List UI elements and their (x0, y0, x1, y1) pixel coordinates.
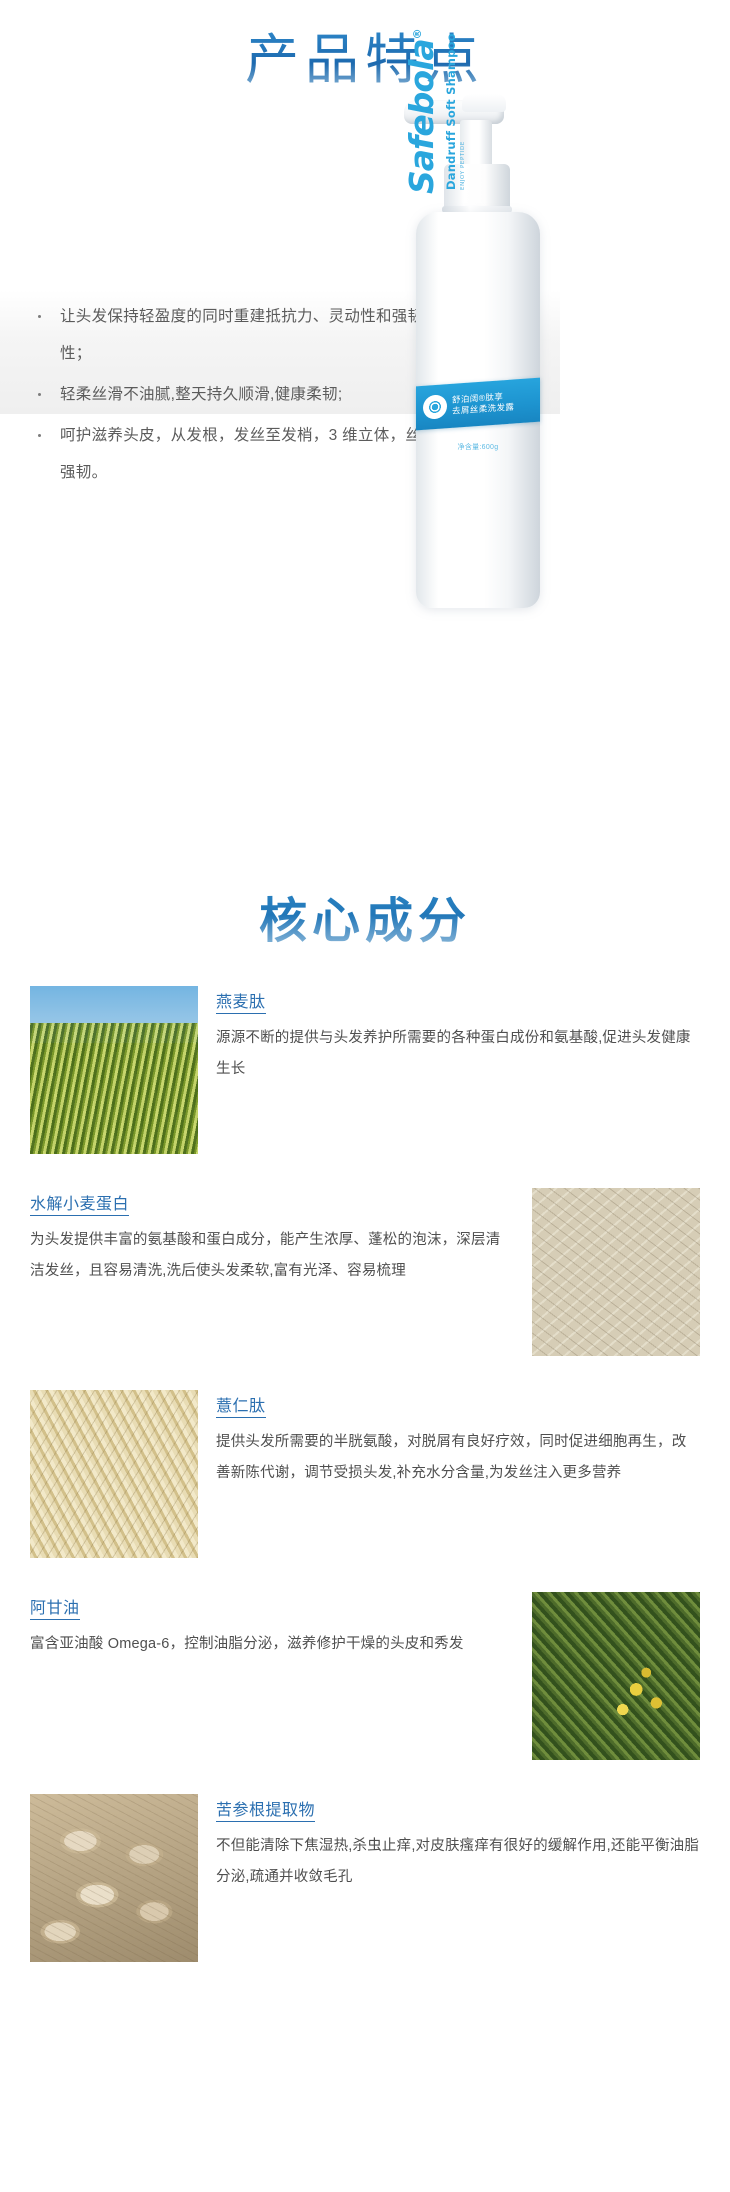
ingredient-name[interactable]: 燕麦肽 (216, 988, 266, 1014)
bottle-label-text: 舒泊阔®肽享 去屑丝柔洗发露 (452, 390, 514, 416)
coix-seed-photo (30, 1390, 198, 1558)
ingredient-row: 薏仁肽 提供头发所需要的半胱氨酸，对脱屑有良好疗效，同时促进细胞再生，改善新陈代… (0, 1390, 730, 1558)
ingredient-name[interactable]: 苦参根提取物 (216, 1796, 315, 1822)
ingredient-row: 阿甘油 富含亚油酸 Omega-6，控制油脂分泌，滋养修护干燥的头皮和秀发 (0, 1592, 730, 1760)
ingredient-text: 薏仁肽 提供头发所需要的半胱氨酸，对脱屑有良好疗效，同时促进细胞再生，改善新陈代… (216, 1390, 700, 1489)
core-ingredients-section: 核心成分 燕麦肽 源源不断的提供与头发养护所需要的各种蛋白成份和氨基酸,促进头发… (0, 870, 730, 2008)
bullet-text: 呵护滋养头皮，从发根，发丝至发梢，3 维立体，丝丝强韧。 (60, 427, 437, 481)
ingredient-row: 苦参根提取物 不但能清除下焦湿热,杀虫止痒,对皮肤瘙痒有很好的缓解作用,还能平衡… (0, 1794, 730, 1962)
ingredient-text: 阿甘油 富含亚油酸 Omega-6，控制油脂分泌，滋养修护干燥的头皮和秀发 (30, 1592, 514, 1660)
product-bottle-image: Safebola® Dandruff Soft Shampoo ENJOY PE… (398, 86, 730, 626)
bullet-text: 轻柔丝滑不油腻,整天持久顺滑,健康柔韧; (60, 386, 342, 403)
ingredient-description: 为头发提供丰富的氨基酸和蛋白成分，能产生浓厚、蓬松的泡沫，深层清洁发丝，且容易清… (30, 1225, 514, 1287)
ingredient-name[interactable]: 阿甘油 (30, 1594, 80, 1620)
page-title: 产品特点 (0, 28, 730, 92)
bottle-brand-mark: ® (411, 29, 424, 39)
bottle-brand-text: Safebola® (402, 29, 441, 194)
bottle-label-content: 舒泊阔®肽享 去屑丝柔洗发露 (416, 378, 540, 431)
list-item: 让头发保持轻盈度的同时重建抵抗力、灵动性和强韧性； (30, 298, 450, 372)
barley-grains-photo (532, 1188, 700, 1356)
list-item: 呵护滋养头皮，从发根，发丝至发梢，3 维立体，丝丝强韧。 (30, 417, 450, 491)
ingredient-text: 燕麦肽 源源不断的提供与头发养护所需要的各种蛋白成份和氨基酸,促进头发健康生长 (216, 986, 700, 1085)
product-features-section: 产品特点 让头发保持轻盈度的同时重建抵抗力、灵动性和强韧性； 轻柔丝滑不油腻,整… (0, 0, 730, 870)
ingredient-description: 提供头发所需要的半胱氨酸，对脱屑有良好疗效，同时促进细胞再生，改善新陈代谢，调节… (216, 1427, 700, 1489)
bottle-subtitle-text: Dandruff Soft Shampoo (444, 33, 458, 190)
bottle-brand-name: Safebola (402, 39, 441, 194)
snowflake-emblem-icon (423, 394, 447, 420)
ingredient-text: 苦参根提取物 不但能清除下焦湿热,杀虫止痒,对皮肤瘙痒有很好的缓解作用,还能平衡… (216, 1794, 700, 1893)
ingredient-name[interactable]: 薏仁肽 (216, 1392, 266, 1418)
feature-bullet-list: 让头发保持轻盈度的同时重建抵抗力、灵动性和强韧性； 轻柔丝滑不油腻,整天持久顺滑… (30, 298, 450, 495)
bottle-net-weight: 净含量:600g (416, 442, 540, 452)
ingredient-text: 水解小麦蛋白 为头发提供丰富的氨基酸和蛋白成分，能产生浓厚、蓬松的泡沫，深层清洁… (30, 1188, 514, 1287)
oat-field-photo (30, 986, 198, 1154)
bullet-dot-icon (38, 315, 41, 318)
argan-fruit-photo (532, 1592, 700, 1760)
sophora-root-photo (30, 1794, 198, 1962)
bullet-dot-icon (38, 393, 41, 396)
bottom-spacer (0, 1962, 730, 2008)
bullet-text: 让头发保持轻盈度的同时重建抵抗力、灵动性和强韧性； (60, 308, 423, 362)
ingredient-row: 燕麦肽 源源不断的提供与头发养护所需要的各种蛋白成份和氨基酸,促进头发健康生长 (0, 986, 730, 1154)
ingredient-description: 不但能清除下焦湿热,杀虫止痒,对皮肤瘙痒有很好的缓解作用,还能平衡油脂分泌,疏通… (216, 1831, 700, 1893)
bottle-tagline-text: ENJOY PEPTIDE (460, 141, 466, 190)
ingredient-name[interactable]: 水解小麦蛋白 (30, 1190, 129, 1216)
bullet-dot-icon (38, 434, 41, 437)
ingredient-row: 水解小麦蛋白 为头发提供丰富的氨基酸和蛋白成分，能产生浓厚、蓬松的泡沫，深层清洁… (0, 1188, 730, 1356)
list-item: 轻柔丝滑不油腻,整天持久顺滑,健康柔韧; (30, 376, 450, 413)
ingredient-description: 源源不断的提供与头发养护所需要的各种蛋白成份和氨基酸,促进头发健康生长 (216, 1023, 700, 1085)
ingredient-description: 富含亚油酸 Omega-6，控制油脂分泌，滋养修护干燥的头皮和秀发 (30, 1629, 514, 1660)
section-title: 核心成分 (0, 870, 730, 952)
